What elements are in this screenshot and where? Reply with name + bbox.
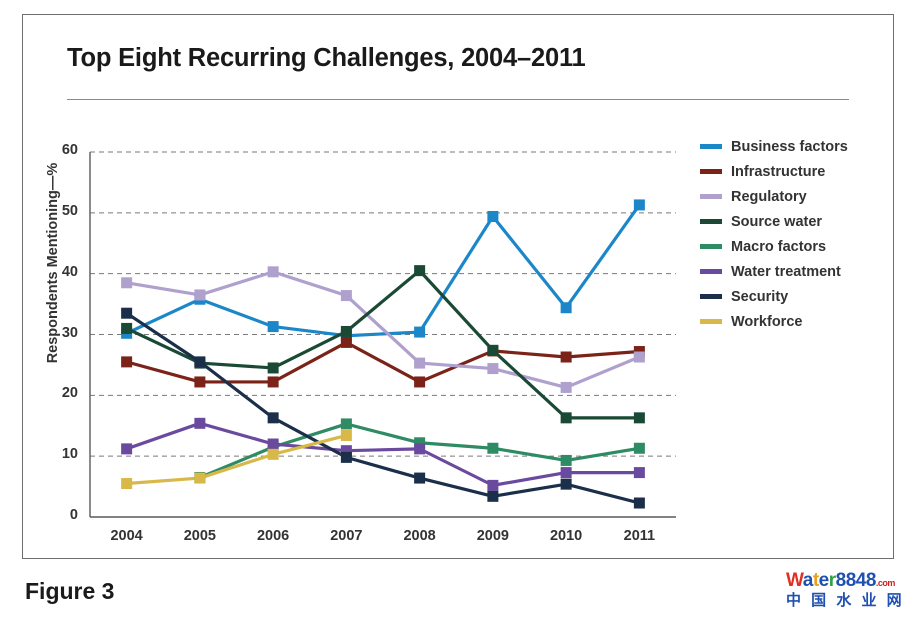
- data-point-marker: [414, 265, 425, 276]
- data-point-marker: [194, 376, 205, 387]
- legend-item-regulatory[interactable]: Regulatory: [700, 184, 848, 209]
- watermark-text-line1: Water8848.com: [786, 571, 908, 590]
- y-tick-label: 40: [38, 264, 78, 280]
- legend-item-infrastructure[interactable]: Infrastructure: [700, 159, 848, 184]
- data-point-marker: [561, 302, 572, 313]
- data-point-marker: [268, 362, 279, 373]
- y-tick-label: 60: [38, 142, 78, 158]
- legend-item-security[interactable]: Security: [700, 284, 848, 309]
- data-point-marker: [341, 326, 352, 337]
- legend-color-swatch: [700, 194, 722, 199]
- data-point-marker: [194, 473, 205, 484]
- data-point-marker: [194, 289, 205, 300]
- data-point-marker: [487, 480, 498, 491]
- watermark-letter-e: e: [819, 570, 829, 591]
- legend-label: Water treatment: [731, 264, 841, 280]
- data-point-marker: [121, 277, 132, 288]
- data-point-marker: [634, 498, 645, 509]
- legend-label: Macro factors: [731, 239, 826, 255]
- figure-root: Top Eight Recurring Challenges, 2004–201…: [0, 0, 917, 621]
- legend-label: Business factors: [731, 139, 848, 155]
- legend-label: Workforce: [731, 314, 802, 330]
- data-point-marker: [268, 412, 279, 423]
- watermark-number: 8848: [836, 570, 876, 591]
- y-tick-label: 10: [38, 446, 78, 462]
- y-tick-label: 0: [38, 507, 78, 523]
- y-tick-label: 50: [38, 203, 78, 219]
- data-point-marker: [487, 363, 498, 374]
- legend-label: Infrastructure: [731, 164, 825, 180]
- watermark-letter-a: a: [803, 570, 813, 591]
- data-point-marker: [414, 376, 425, 387]
- data-point-marker: [561, 412, 572, 423]
- data-point-marker: [561, 382, 572, 393]
- data-point-marker: [268, 376, 279, 387]
- legend-item-workforce[interactable]: Workforce: [700, 309, 848, 334]
- data-point-marker: [634, 352, 645, 363]
- series-line: [127, 272, 640, 388]
- x-tick-label: 2006: [238, 528, 308, 544]
- data-point-marker: [487, 211, 498, 222]
- data-point-marker: [121, 478, 132, 489]
- series-line: [127, 435, 347, 483]
- x-tick-label: 2010: [531, 528, 601, 544]
- site-watermark: Water8848.com 中 国 水 业 网: [786, 571, 908, 608]
- data-point-marker: [561, 467, 572, 478]
- data-point-marker: [634, 412, 645, 423]
- y-tick-label: 30: [38, 325, 78, 341]
- legend-color-swatch: [700, 294, 722, 299]
- data-point-marker: [268, 266, 279, 277]
- data-point-marker: [561, 352, 572, 363]
- data-point-marker: [561, 479, 572, 490]
- data-point-marker: [487, 345, 498, 356]
- y-tick-label: 20: [38, 385, 78, 401]
- data-point-marker: [341, 430, 352, 441]
- legend-color-swatch: [700, 269, 722, 274]
- data-point-marker: [341, 418, 352, 429]
- x-tick-label: 2004: [92, 528, 162, 544]
- legend-label: Security: [731, 289, 788, 305]
- data-point-marker: [487, 443, 498, 454]
- data-point-marker: [341, 337, 352, 348]
- data-point-marker: [414, 443, 425, 454]
- watermark-letter-w: W: [786, 570, 803, 591]
- data-point-marker: [341, 290, 352, 301]
- data-point-marker: [487, 491, 498, 502]
- legend-color-swatch: [700, 169, 722, 174]
- x-tick-label: 2008: [385, 528, 455, 544]
- x-tick-label: 2009: [458, 528, 528, 544]
- data-point-marker: [268, 439, 279, 450]
- x-tick-label: 2005: [165, 528, 235, 544]
- data-point-marker: [121, 356, 132, 367]
- legend-item-water-treatment[interactable]: Water treatment: [700, 259, 848, 284]
- data-point-marker: [634, 443, 645, 454]
- data-point-marker: [194, 356, 205, 367]
- legend-color-swatch: [700, 319, 722, 324]
- data-point-marker: [121, 443, 132, 454]
- data-point-marker: [194, 418, 205, 429]
- x-tick-label: 2011: [604, 528, 674, 544]
- data-point-marker: [414, 327, 425, 338]
- data-point-marker: [268, 321, 279, 332]
- watermark-text-line2: 中 国 水 业 网: [786, 593, 908, 608]
- watermark-letter-r: r: [829, 570, 836, 591]
- data-point-marker: [634, 467, 645, 478]
- series-line: [127, 205, 640, 336]
- data-point-marker: [414, 473, 425, 484]
- chart-legend: Business factorsInfrastructureRegulatory…: [700, 134, 848, 334]
- legend-item-business-factors[interactable]: Business factors: [700, 134, 848, 159]
- data-point-marker: [268, 449, 279, 460]
- data-point-marker: [634, 199, 645, 210]
- legend-color-swatch: [700, 144, 722, 149]
- legend-label: Source water: [731, 214, 822, 230]
- legend-item-macro-factors[interactable]: Macro factors: [700, 234, 848, 259]
- legend-item-source-water[interactable]: Source water: [700, 209, 848, 234]
- legend-color-swatch: [700, 219, 722, 224]
- figure-caption: Figure 3: [25, 578, 114, 605]
- legend-color-swatch: [700, 244, 722, 249]
- data-point-marker: [341, 452, 352, 463]
- data-point-marker: [121, 308, 132, 319]
- legend-label: Regulatory: [731, 189, 807, 205]
- data-point-marker: [561, 455, 572, 466]
- data-point-marker: [121, 323, 132, 334]
- data-point-marker: [414, 358, 425, 369]
- watermark-domain-suffix: .com: [876, 578, 895, 588]
- x-tick-label: 2007: [311, 528, 381, 544]
